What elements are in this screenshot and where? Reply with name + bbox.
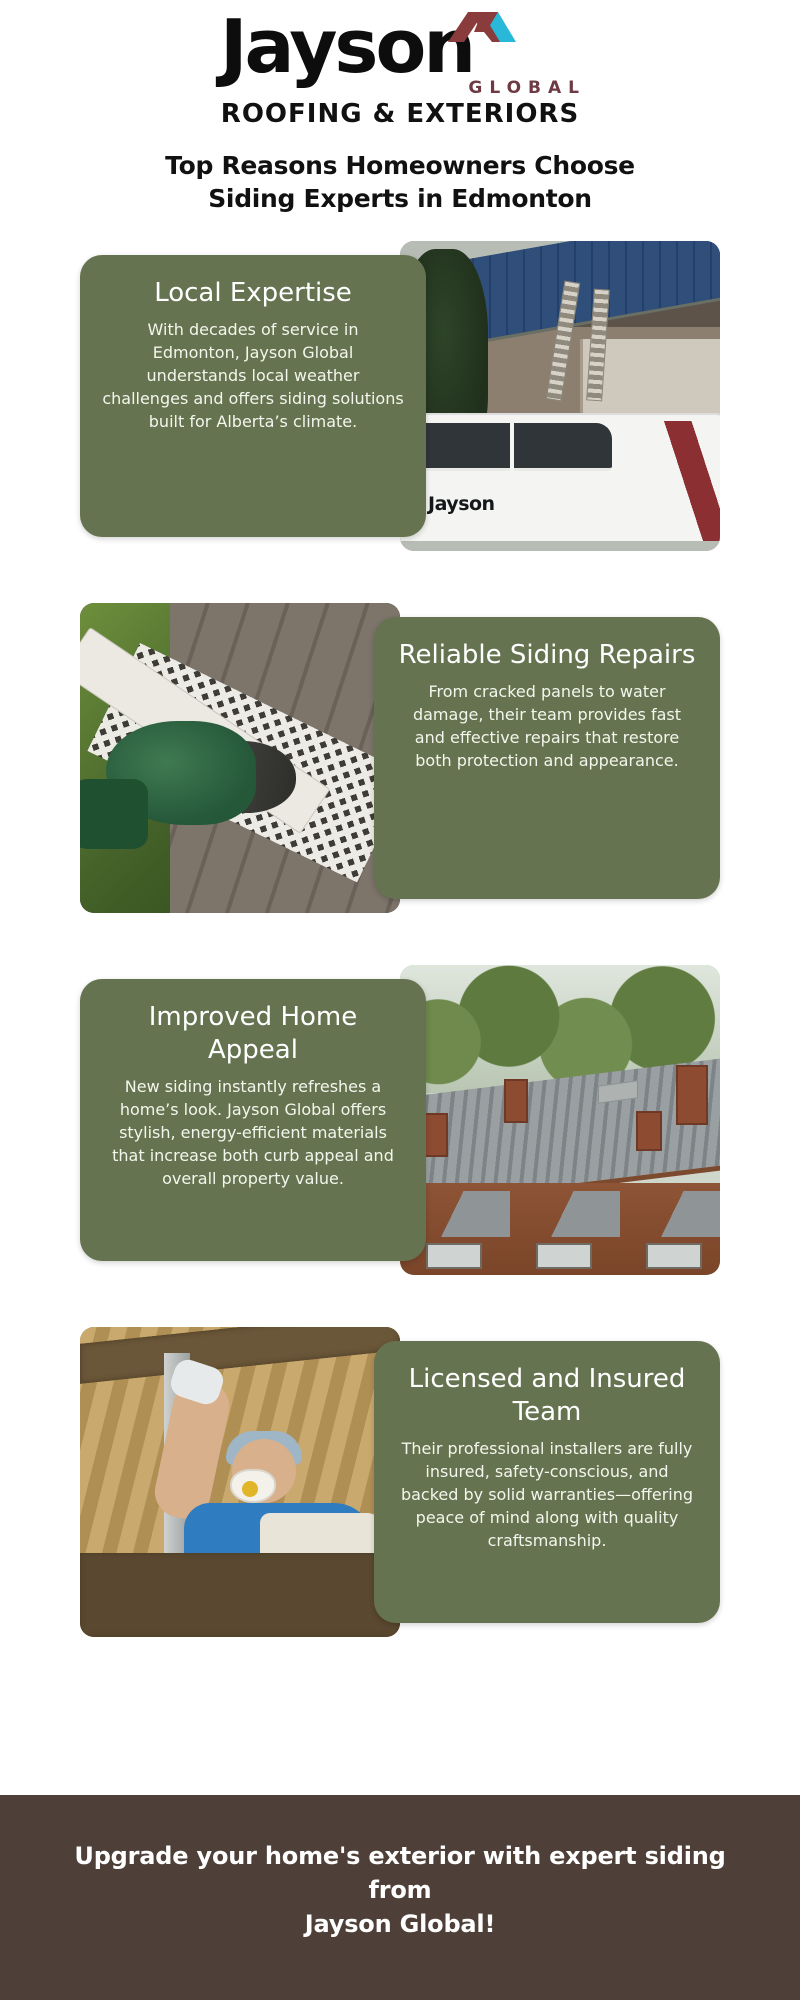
reason-card: Jayson Local Expertise With decades of s… bbox=[80, 241, 720, 551]
card-panel-licensed-and-insured-team: Licensed and Insured Team Their professi… bbox=[374, 1341, 720, 1623]
reason-card-list: Jayson Local Expertise With decades of s… bbox=[0, 241, 800, 1637]
reason-card: Reliable Siding Repairs From cracked pan… bbox=[80, 603, 720, 913]
brand-tagline: ROOFING & EXTERIORS bbox=[0, 99, 800, 129]
card-body: With decades of service in Edmonton, Jay… bbox=[102, 318, 404, 433]
tiled-roof-photo-illustration bbox=[400, 965, 720, 1275]
truck-decal-text: Jayson bbox=[428, 493, 495, 515]
brand-subwordmark: GLOBAL bbox=[468, 78, 586, 98]
gutter-guard-photo-illustration bbox=[80, 603, 400, 913]
cta-footer-text: Upgrade your home's exterior with expert… bbox=[40, 1839, 760, 1941]
card-body: New siding instantly refreshes a home’s … bbox=[102, 1075, 404, 1190]
card-photo-improved-home-appeal bbox=[400, 965, 720, 1275]
reason-card: Improved Home Appeal New siding instantl… bbox=[80, 965, 720, 1275]
brand-logo: Jayson GLOBAL bbox=[220, 4, 580, 100]
page-title-line-1: Top Reasons Homeowners Choose bbox=[0, 149, 800, 182]
card-photo-licensed-and-insured-team bbox=[80, 1327, 400, 1637]
card-panel-local-expertise: Local Expertise With decades of service … bbox=[80, 255, 426, 537]
card-panel-improved-home-appeal: Improved Home Appeal New siding instantl… bbox=[80, 979, 426, 1261]
card-title: Licensed and Insured Team bbox=[396, 1363, 698, 1429]
roof-icon bbox=[448, 10, 516, 42]
cta-footer-line-2: Jayson Global! bbox=[305, 1910, 495, 1938]
page-title-line-2: Siding Experts in Edmonton bbox=[0, 182, 800, 215]
page-header: Jayson GLOBAL ROOFING & EXTERIORS Top Re… bbox=[0, 0, 800, 215]
page-title: Top Reasons Homeowners Choose Siding Exp… bbox=[0, 149, 800, 215]
card-photo-local-expertise: Jayson bbox=[400, 241, 720, 551]
card-title: Local Expertise bbox=[102, 277, 404, 310]
card-body: Their professional installers are fully … bbox=[396, 1437, 698, 1552]
cta-footer-banner: Upgrade your home's exterior with expert… bbox=[0, 1795, 800, 2000]
card-panel-reliable-siding-repairs: Reliable Siding Repairs From cracked pan… bbox=[374, 617, 720, 899]
truck-photo-illustration: Jayson bbox=[400, 241, 720, 551]
reason-card: Licensed and Insured Team Their professi… bbox=[80, 1327, 720, 1637]
card-title: Reliable Siding Repairs bbox=[396, 639, 698, 672]
card-title: Improved Home Appeal bbox=[102, 1001, 404, 1067]
card-photo-reliable-siding-repairs bbox=[80, 603, 400, 913]
cta-footer-line-1: Upgrade your home's exterior with expert… bbox=[74, 1842, 725, 1904]
card-body: From cracked panels to water damage, the… bbox=[396, 680, 698, 772]
insulation-worker-photo-illustration bbox=[80, 1327, 400, 1637]
